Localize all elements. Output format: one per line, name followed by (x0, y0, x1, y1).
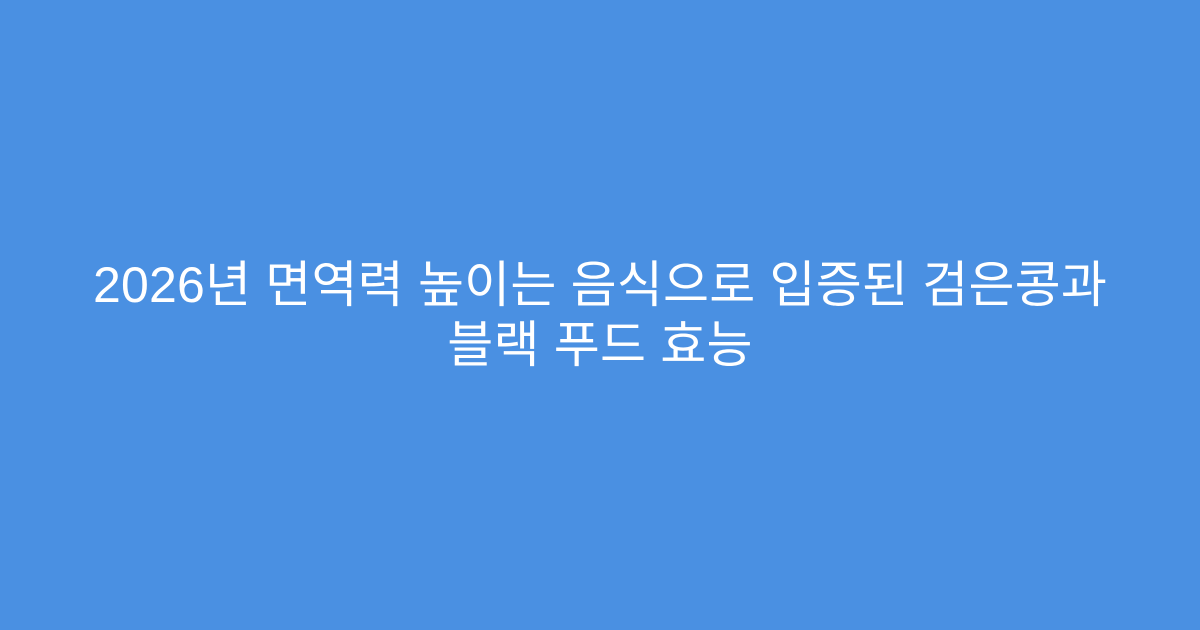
social-share-card: 2026년 면역력 높이는 음식으로 입증된 검은콩과 블랙 푸드 효능 (0, 0, 1200, 630)
headline-line-1: 2026년 면역력 높이는 음식으로 입증된 검은콩과 (72, 255, 1128, 315)
page-title: 2026년 면역력 높이는 음식으로 입증된 검은콩과 블랙 푸드 효능 (72, 255, 1128, 375)
headline-line-2: 블랙 푸드 효능 (72, 315, 1128, 375)
